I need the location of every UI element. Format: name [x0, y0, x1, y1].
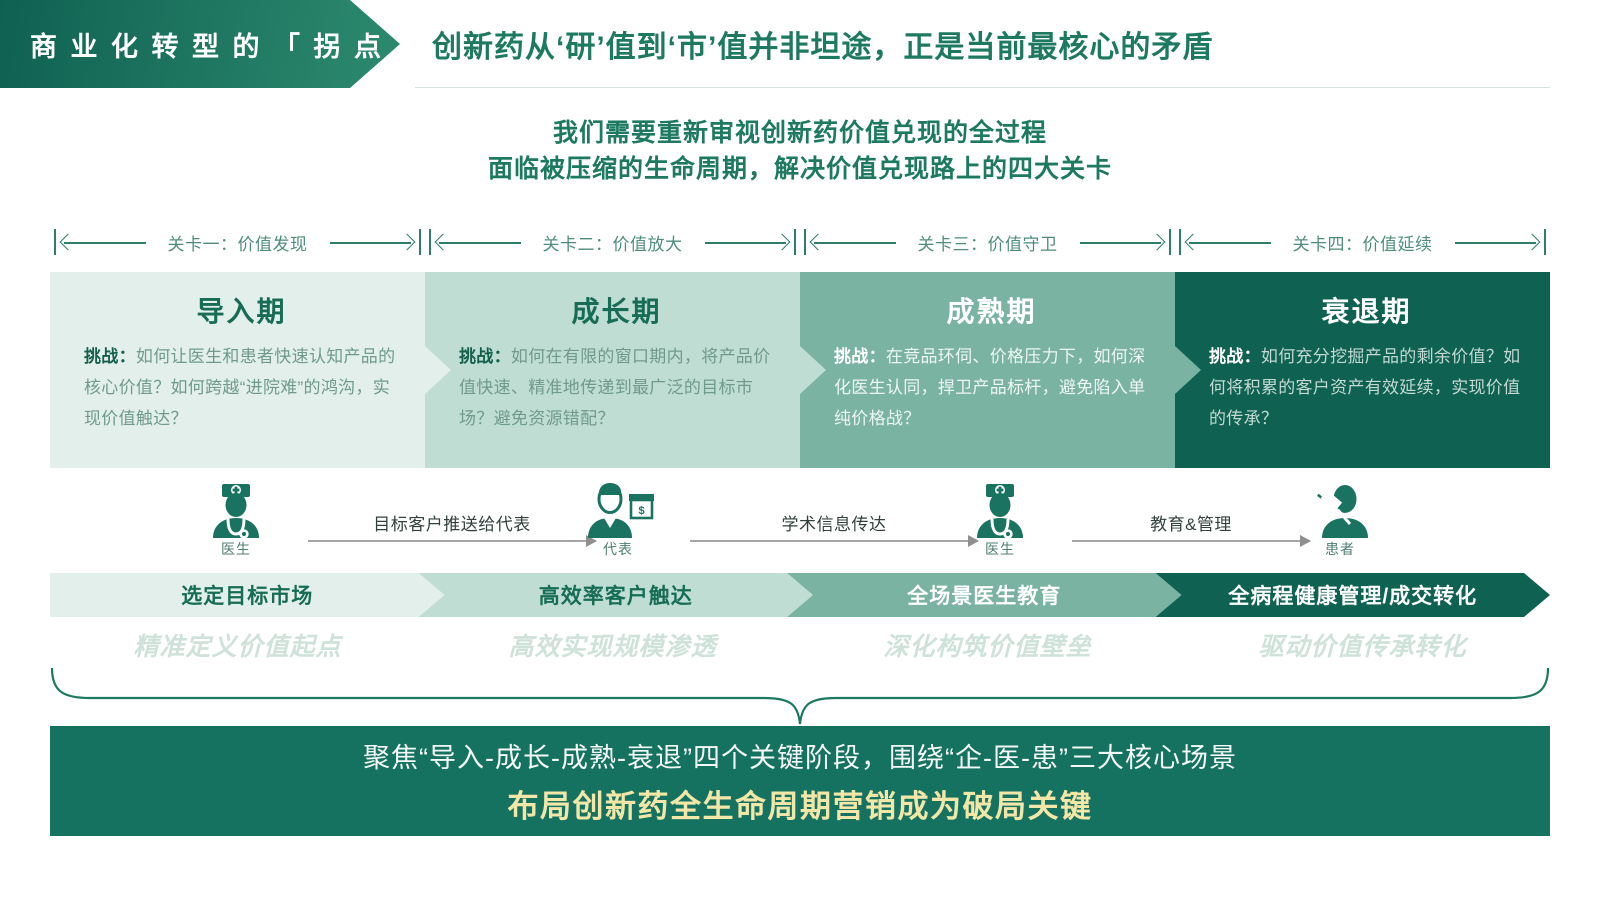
brace-icon	[50, 668, 1550, 726]
conclusion-banner: 聚焦“导入-成长-成熟-衰退”四个关键阶段，围绕“企-医-患”三大核心场景 布局…	[50, 726, 1550, 836]
stage-challenge-text: 挑战：如何让医生和患者快速认知产品的核心价值？如何跨越“进院难”的鸿沟，实现价值…	[84, 342, 399, 435]
chevron-step-3[interactable]: 全场景医生教育	[787, 573, 1182, 617]
flow-node-caption: 医生	[940, 539, 1060, 559]
summary-brace	[50, 668, 1550, 726]
doctor-icon	[940, 480, 1060, 538]
arrow-right-icon	[1072, 233, 1170, 251]
header-tag-label: 商 业 化 转 型 的 「 拐 点 」	[30, 25, 425, 64]
arrow-right-icon	[1072, 540, 1310, 542]
sales-rep-icon: $	[558, 480, 678, 538]
page-title: 创新药从‘研’值到‘市’值并非坦途，正是当前最核心的矛盾	[432, 0, 1213, 88]
stage-challenge-text: 挑战：如何充分挖掘产品的剩余价值？如何将积累的客户资产有效延续，实现价值的传承？	[1209, 342, 1524, 435]
gate-label-1: 关卡一：价值发现	[154, 230, 322, 255]
stage-title: 成长期	[459, 290, 774, 330]
gate-marker-3: 关卡三：价值守卫	[800, 222, 1175, 262]
slogan-2: 高效实现规模渗透	[425, 622, 800, 668]
chevron-label: 全场景医生教育	[907, 580, 1061, 610]
gate-cap-right-icon	[794, 229, 796, 255]
flow-node-patient: 患者	[1280, 480, 1400, 559]
chevron-step-1[interactable]: 选定目标市场	[50, 573, 445, 617]
arrow-right-icon	[690, 540, 978, 542]
chevron-label: 全病程健康管理/成交转化	[1228, 580, 1477, 610]
gate-cap-right-icon	[1544, 229, 1546, 255]
stage-challenge-lead: 挑战：	[84, 347, 136, 366]
stage-title: 衰退期	[1209, 290, 1524, 330]
gate-cap-right-icon	[1169, 229, 1171, 255]
patient-icon	[1280, 480, 1400, 538]
stage-panel-growth[interactable]: 成长期 挑战：如何在有限的窗口期内，将产品价值快速、精准地传递到最广泛的目标市场…	[425, 272, 800, 468]
slogan-4: 驱动价值传承转化	[1175, 622, 1550, 668]
flow-node-caption: 患者	[1280, 539, 1400, 559]
stage-challenge-lead: 挑战：	[1209, 347, 1261, 366]
arrow-right-icon	[697, 233, 795, 251]
stage-connector-arrow-icon	[800, 346, 826, 394]
gate-marker-4: 关卡四：价值延续	[1175, 222, 1550, 262]
subheading-line-1: 我们需要重新审视创新药价值兑现的全过程	[0, 116, 1600, 152]
gate-marker-1: 关卡一：价值发现	[50, 222, 425, 262]
stage-panel-decline[interactable]: 衰退期 挑战：如何充分挖掘产品的剩余价值？如何将积累的客户资产有效延续，实现价值…	[1175, 272, 1550, 468]
chevron-step-2[interactable]: 高效率客户触达	[419, 573, 814, 617]
chevron-step-4[interactable]: 全病程健康管理/成交转化	[1156, 573, 1551, 617]
chevron-label: 高效率客户触达	[539, 580, 693, 610]
lifecycle-stage-panels: 导入期 挑战：如何让医生和患者快速认知产品的核心价值？如何跨越“进院难”的鸿沟，…	[50, 272, 1550, 468]
flow-connector-label: 教育&管理	[1072, 510, 1310, 535]
stage-connector-arrow-icon	[425, 346, 451, 394]
gate-cap-right-icon	[419, 229, 421, 255]
conclusion-line-2: 布局创新药全生命周期营销成为破局关键	[508, 781, 1093, 826]
stage-challenge-text: 挑战：如何在有限的窗口期内，将产品价值快速、精准地传递到最广泛的目标市场？避免资…	[459, 342, 774, 435]
subheading-block: 我们需要重新审视创新药价值兑现的全过程 面临被压缩的生命周期，解决价值兑现路上的…	[0, 116, 1600, 187]
chevron-label: 选定目标市场	[181, 580, 313, 610]
header-divider	[415, 87, 1550, 88]
arrow-left-icon	[806, 233, 904, 251]
stage-challenge-lead: 挑战：	[834, 347, 886, 366]
flow-node-doctor-2: 医生	[940, 480, 1060, 559]
doctor-icon	[176, 480, 296, 538]
gate-label-4: 关卡四：价值延续	[1279, 230, 1447, 255]
arrow-left-icon	[431, 233, 529, 251]
arrow-right-icon	[1447, 233, 1545, 251]
slogan-3: 深化构筑价值壁垒	[800, 622, 1175, 668]
arrow-right-icon	[322, 233, 420, 251]
flow-node-caption: 医生	[176, 539, 296, 559]
arrow-left-icon	[1181, 233, 1279, 251]
stage-panel-maturity[interactable]: 成熟期 挑战：在竞品环伺、价格压力下，如何深化医生认同，捍卫产品标杆，避免陷入单…	[800, 272, 1175, 468]
stage-title: 导入期	[84, 290, 399, 330]
stage-challenge-lead: 挑战：	[459, 347, 511, 366]
slogan-row: 精准定义价值起点 高效实现规模渗透 深化构筑价值壁垒 驱动价值传承转化	[50, 622, 1550, 668]
arrow-right-icon	[308, 540, 596, 542]
flow-connector-3: 教育&管理	[1072, 510, 1310, 544]
stage-panel-introduction[interactable]: 导入期 挑战：如何让医生和患者快速认知产品的核心价值？如何跨越“进院难”的鸿沟，…	[50, 272, 425, 468]
subheading-line-2: 面临被压缩的生命周期，解决价值兑现路上的四大关卡	[0, 152, 1600, 188]
flow-node-caption: 代表	[558, 539, 678, 559]
header-tag-banner: 商 业 化 转 型 的 「 拐 点 」	[0, 0, 400, 88]
gate-marker-2: 关卡二：价值放大	[425, 222, 800, 262]
arrow-left-icon	[56, 233, 154, 251]
flow-connector-label: 目标客户推送给代表	[308, 510, 596, 535]
gate-axis-row: 关卡一：价值发现 关卡二：价值放大 关卡三：价值守卫 关卡四：价值延续	[50, 222, 1550, 262]
gate-label-3: 关卡三：价值守卫	[904, 230, 1072, 255]
gate-label-2: 关卡二：价值放大	[529, 230, 697, 255]
svg-text:$: $	[638, 505, 644, 517]
page-header: 商 业 化 转 型 的 「 拐 点 」 创新药从‘研’值到‘市’值并非坦途，正是…	[0, 0, 1600, 88]
action-chevron-bar: 选定目标市场 高效率客户触达 全场景医生教育 全病程健康管理/成交转化	[50, 573, 1550, 617]
flow-connector-label: 学术信息传达	[690, 510, 978, 535]
flow-connector-2: 学术信息传达	[690, 510, 978, 544]
flow-node-sales-rep: $ 代表	[558, 480, 678, 559]
flow-node-doctor-1: 医生	[176, 480, 296, 559]
stage-title: 成熟期	[834, 290, 1149, 330]
persona-flow-row: 医生 目标客户推送给代表 $ 代表 学术信息传达	[50, 480, 1550, 566]
stage-challenge-text: 挑战：在竞品环伺、价格压力下，如何深化医生认同，捍卫产品标杆，避免陷入单纯价格战…	[834, 342, 1149, 435]
slogan-1: 精准定义价值起点	[50, 622, 425, 668]
stage-connector-arrow-icon	[1175, 346, 1201, 394]
conclusion-line-1: 聚焦“导入-成长-成熟-衰退”四个关键阶段，围绕“企-医-患”三大核心场景	[363, 736, 1237, 775]
flow-connector-1: 目标客户推送给代表	[308, 510, 596, 544]
